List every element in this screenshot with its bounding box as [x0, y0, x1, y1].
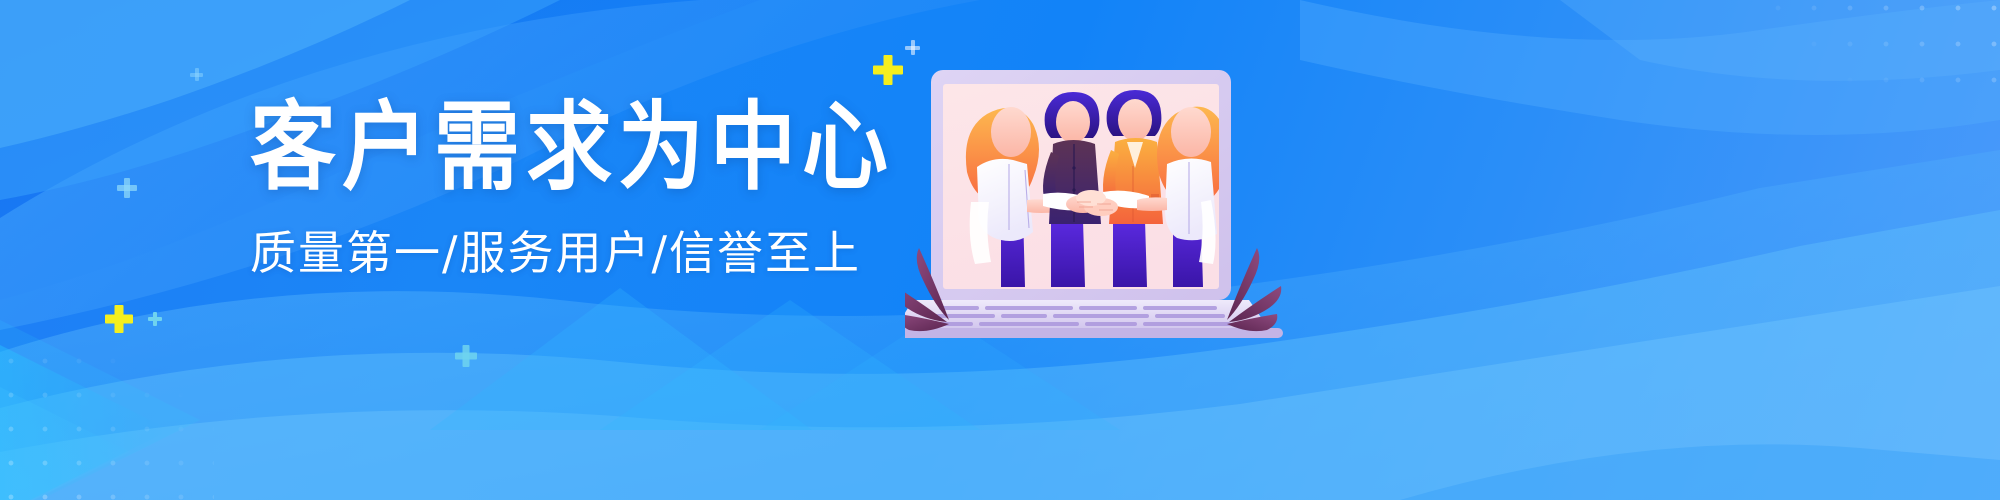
plus-cyan-faint-icon: [117, 178, 137, 198]
banner-text-block: 客户需求为中心 质量第一/服务用户/信誉至上: [250, 100, 870, 276]
plus-yellow-bottom-icon: [105, 305, 133, 333]
laptop-svg: [905, 52, 1295, 342]
dot-grid-top-right: [1760, 0, 2000, 110]
plus-cyan-laptop-icon: [455, 345, 477, 367]
marketing-banner: 客户需求为中心 质量第一/服务用户/信誉至上: [0, 0, 2000, 500]
plus-cyan-dim-icon: [190, 68, 203, 81]
plus-yellow-large-icon: [873, 55, 903, 85]
laptop-illustration: [905, 52, 1295, 342]
plus-cyan-bottom-icon: [148, 312, 162, 326]
banner-subtitle: 质量第一/服务用户/信誉至上: [250, 230, 870, 276]
frond-decoration-right: [1227, 248, 1281, 331]
page-title: 客户需求为中心: [250, 100, 870, 196]
dot-grid-bottom-left: [0, 344, 214, 500]
